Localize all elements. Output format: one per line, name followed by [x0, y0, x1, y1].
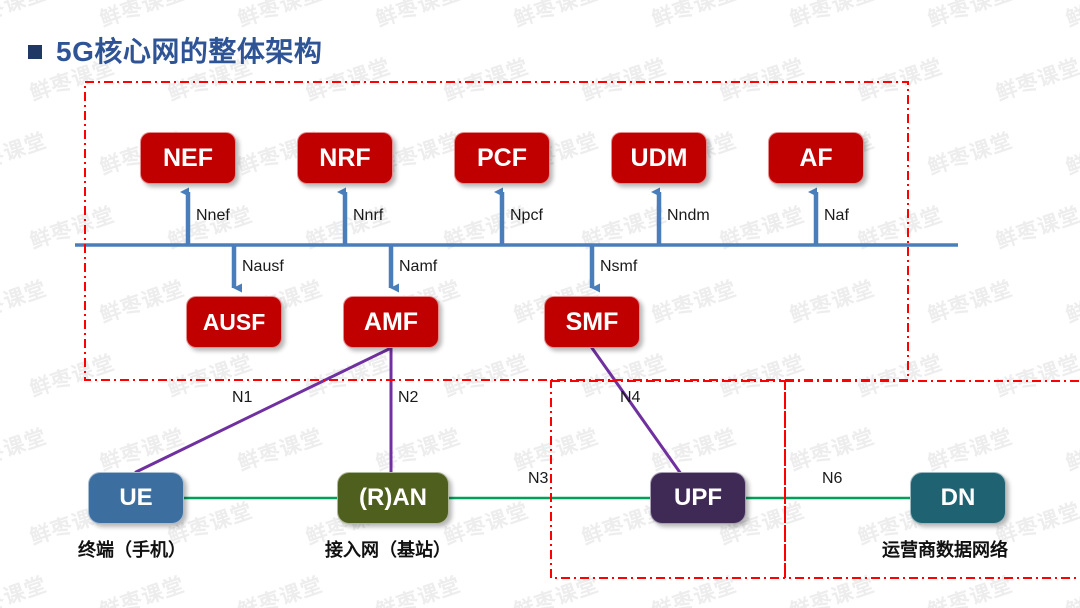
- nf-node-af[interactable]: AF: [768, 132, 864, 184]
- node-ran[interactable]: (R)AN: [337, 472, 449, 524]
- node-ue-label: UE: [119, 484, 152, 512]
- reference-point-label-n4: N4: [620, 389, 640, 407]
- nf-node-ausf-label: AUSF: [203, 309, 266, 336]
- slide-canvas: 鲜枣课堂鲜枣课堂鲜枣课堂鲜枣课堂鲜枣课堂鲜枣课堂鲜枣课堂鲜枣课堂鲜枣课堂鲜枣课堂…: [0, 0, 1080, 608]
- nf-node-smf[interactable]: SMF: [544, 296, 640, 348]
- interface-label-naf: Naf: [824, 207, 849, 225]
- node-ran-label: (R)AN: [359, 484, 427, 512]
- interface-label-nnef: Nnef: [196, 207, 230, 225]
- page-title: 5G核心网的整体架构: [56, 30, 322, 70]
- node-upf[interactable]: UPF: [650, 472, 746, 524]
- reference-point-label-n1: N1: [232, 389, 252, 407]
- reference-point-label-n6: N6: [822, 470, 842, 488]
- caption-ue: 终端（手机）: [78, 536, 186, 562]
- interface-label-nndm: Nndm: [667, 207, 710, 225]
- nf-node-pcf[interactable]: PCF: [454, 132, 550, 184]
- nf-node-amf[interactable]: AMF: [343, 296, 439, 348]
- nf-node-udm[interactable]: UDM: [611, 132, 707, 184]
- nf-node-af-label: AF: [799, 144, 832, 173]
- nf-node-nrf[interactable]: NRF: [297, 132, 393, 184]
- interface-label-nnrf: Nnrf: [353, 207, 383, 225]
- node-ue[interactable]: UE: [88, 472, 184, 524]
- nf-node-nef-label: NEF: [163, 144, 213, 173]
- nf-node-pcf-label: PCF: [477, 144, 527, 173]
- node-dn-label: DN: [941, 484, 976, 512]
- nf-node-smf-label: SMF: [566, 308, 619, 337]
- nf-node-udm-label: UDM: [631, 144, 688, 173]
- page-title-row: 5G核心网的整体架构: [28, 30, 322, 70]
- reference-point-label-n2: N2: [398, 389, 418, 407]
- nf-node-amf-label: AMF: [364, 308, 418, 337]
- interface-label-namf: Namf: [399, 258, 437, 276]
- node-upf-label: UPF: [674, 484, 722, 512]
- nf-node-nrf-label: NRF: [319, 144, 370, 173]
- caption-dn: 运营商数据网络: [882, 536, 1008, 562]
- interface-label-nausf: Nausf: [242, 258, 284, 276]
- caption-ran: 接入网（基站）: [325, 536, 451, 562]
- interface-label-nsmf: Nsmf: [600, 258, 637, 276]
- nf-node-nef[interactable]: NEF: [140, 132, 236, 184]
- nf-node-ausf[interactable]: AUSF: [186, 296, 282, 348]
- node-dn[interactable]: DN: [910, 472, 1006, 524]
- interface-label-npcf: Npcf: [510, 207, 543, 225]
- reference-point-label-n3: N3: [528, 470, 548, 488]
- title-bullet-icon: [28, 45, 42, 59]
